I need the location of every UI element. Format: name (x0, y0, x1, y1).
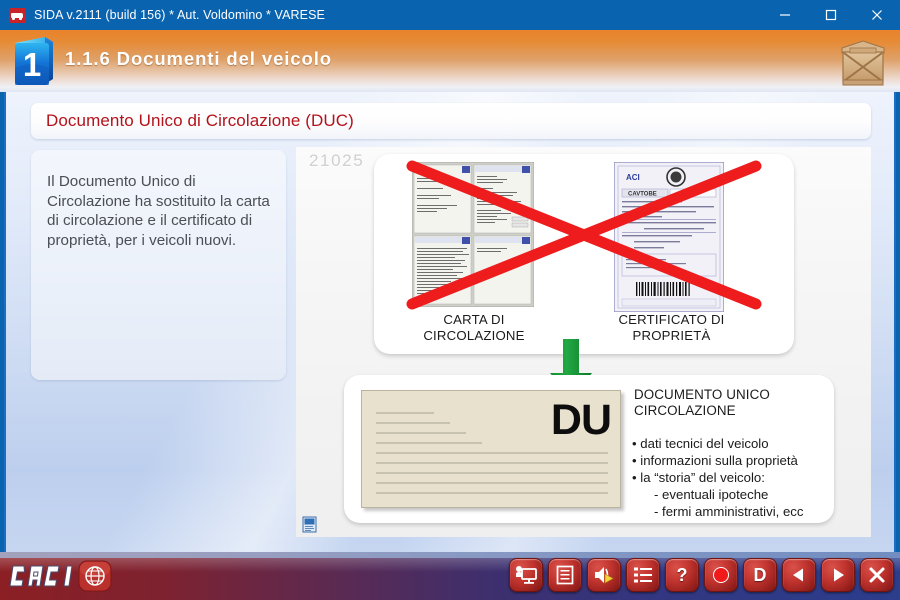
previous-button[interactable] (782, 558, 816, 592)
svg-text:1: 1 (23, 46, 41, 83)
list-icon (633, 566, 653, 584)
toolbar-buttons: ? D (509, 558, 894, 594)
minimize-icon[interactable] (762, 0, 808, 30)
globe-icon[interactable] (78, 560, 112, 592)
chapter-number-badge: 1 (11, 34, 57, 87)
illustration-panel: 21025 (296, 147, 871, 537)
list-item: • dati tecnici del veicolo (632, 435, 837, 452)
document-icon (556, 565, 574, 585)
title-bar: SIDA v.2111 (build 156) * Aut. Voldomino… (0, 0, 900, 30)
crate-icon (838, 36, 888, 88)
du-document: DU (361, 390, 621, 508)
section-header: 1 1.1.6 Documenti del veicolo (0, 30, 900, 92)
section-title-text: Documento Unico di Circolazione (DUC) (46, 111, 354, 131)
document-button[interactable] (548, 558, 582, 592)
close-x-icon (868, 566, 886, 584)
maximize-icon[interactable] (808, 0, 854, 30)
audio-play-button[interactable] (587, 558, 621, 592)
list-item: • informazioni sulla proprietà (632, 452, 837, 469)
speaker-play-icon (593, 565, 615, 585)
ownership-certificate-document: ACI CAVTOBE (614, 162, 724, 312)
exit-button[interactable] (860, 558, 894, 592)
record-circle-icon (712, 566, 730, 584)
forward-triangle-icon (830, 567, 846, 583)
list-button[interactable] (626, 558, 660, 592)
replaced-documents-card: ACI CAVTOBE (374, 154, 794, 354)
application-window: SIDA v.2111 (build 156) * Aut. Voldomino… (0, 0, 900, 600)
list-item: - eventuali ipoteche (632, 486, 837, 503)
help-button[interactable]: ? (665, 558, 699, 592)
svg-text:CAVTOBE: CAVTOBE (628, 192, 657, 198)
vehicle-registration-document (412, 162, 534, 307)
illustration-id: 21025 (309, 151, 364, 171)
question-mark-icon: ? (677, 566, 688, 584)
next-button[interactable] (821, 558, 855, 592)
presentation-button[interactable] (509, 558, 543, 592)
list-item: • la “storia” del veicolo: (632, 469, 837, 486)
svg-text:ACI: ACI (626, 173, 640, 182)
monitor-presenter-icon (515, 565, 537, 585)
record-button[interactable] (704, 558, 738, 592)
close-icon[interactable] (854, 0, 900, 30)
list-item: - fermi amministrativi, ecc (632, 503, 837, 520)
duc-heading: DOCUMENTO UNICO CIRCOLAZIONE (634, 387, 834, 419)
info-panel: Il Documento Unico di Circolazione ha so… (31, 150, 286, 380)
dictionary-button[interactable]: D (743, 558, 777, 592)
cqc-logo (10, 563, 72, 589)
page-title: 1.1.6 Documenti del veicolo (65, 48, 332, 70)
du-label: DU (551, 399, 611, 442)
left-document-caption: CARTA DI CIRCOLAZIONE (394, 312, 554, 343)
section-title-bar: Documento Unico di Circolazione (DUC) (31, 103, 871, 139)
letter-d-icon: D (754, 566, 767, 584)
vehicle-icon (9, 8, 26, 23)
duc-document-card: DU DOCUMENTO UNICO CIRCOLAZIONE • dati t… (344, 375, 834, 523)
back-triangle-icon (791, 567, 807, 583)
window-title: SIDA v.2111 (build 156) * Aut. Voldomino… (34, 8, 325, 22)
bottom-toolbar: ? D (0, 552, 900, 600)
info-text: Il Documento Unico di Circolazione ha so… (47, 172, 272, 250)
content-area: Documento Unico di Circolazione (DUC) Il… (4, 92, 896, 552)
window-controls (762, 0, 900, 30)
duc-bullet-list: • dati tecnici del veicolo • informazion… (632, 435, 837, 520)
right-document-caption: CERTIFICATO DI PROPRIETÀ (584, 312, 759, 343)
image-thumbnail-icon[interactable] (302, 516, 318, 533)
